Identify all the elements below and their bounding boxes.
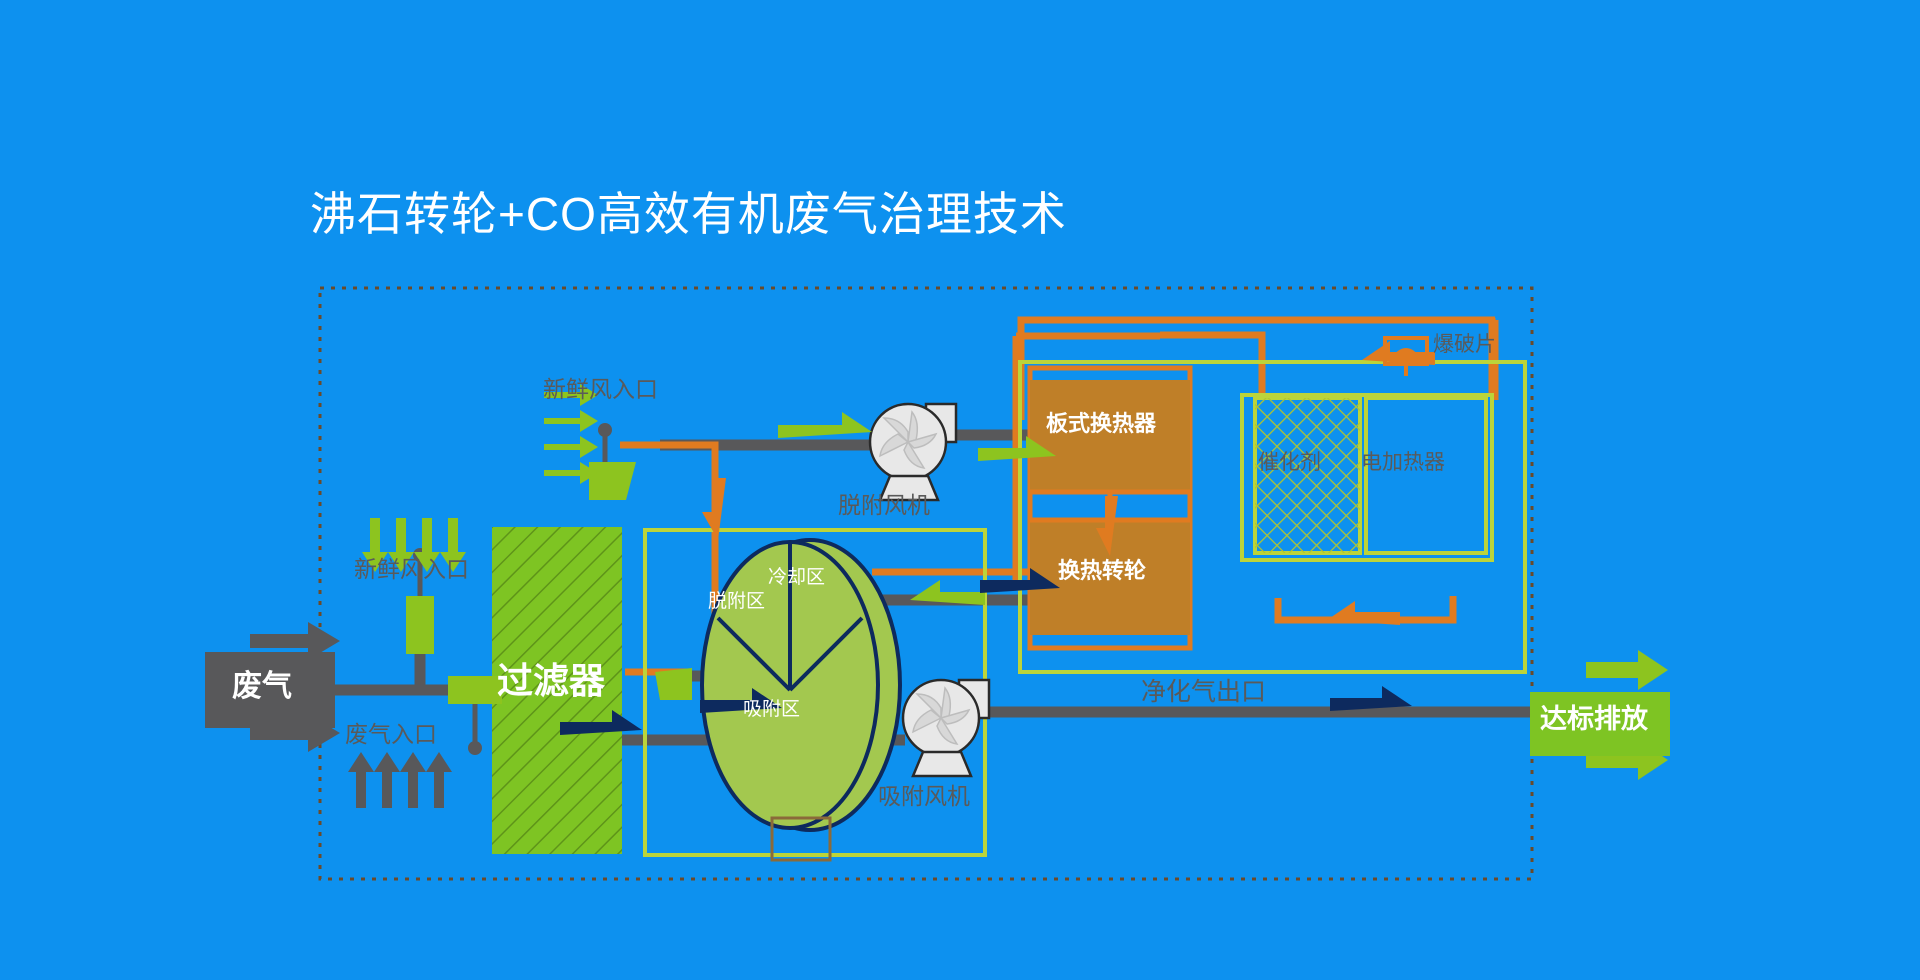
filter-label: 过滤器	[497, 663, 605, 699]
process-flow-diagram	[0, 0, 1920, 980]
fresh-air-top-label: 新鲜风入口	[543, 378, 658, 401]
fresh-air-left-label: 新鲜风入口	[354, 558, 469, 581]
gauge-dot-fresh-air-top	[598, 423, 612, 437]
rupture-disc-label: 爆破片	[1433, 334, 1496, 355]
rotor-zone-adsorption-label: 吸附区	[743, 700, 800, 719]
valve-fresh-air-left	[406, 596, 434, 654]
waste-gas-box-label: 废气	[232, 672, 292, 702]
damper-rotor-desorption	[655, 668, 692, 700]
desorption-fan[interactable]	[870, 404, 956, 500]
waste-gas-inlet-arrows	[348, 752, 452, 808]
clean-gas-outlet-label: 净化气出口	[1141, 680, 1266, 705]
catalyst-media	[1255, 398, 1360, 553]
arrow-green-1	[778, 412, 872, 438]
valve-waste-gas-inlet	[448, 676, 502, 704]
adsorption-fan-label: 吸附风机	[878, 785, 970, 808]
diagram-canvas: 沸石转轮+CO高效有机废气治理技术	[0, 0, 1920, 980]
electric-heater-label: 电加热器	[1361, 452, 1445, 473]
heater-frame	[1366, 398, 1486, 553]
rotor-zone-desorption-label: 脱附区	[708, 592, 765, 611]
adsorption-fan[interactable]	[903, 680, 989, 776]
damper-fresh-air-top	[589, 462, 636, 500]
discharge-box-label: 达标排放	[1540, 706, 1648, 733]
waste-gas-inlet-label: 废气入口	[345, 723, 437, 746]
gauge-dot-waste-gas-in	[468, 741, 482, 755]
heat-exchange-rotor-label: 换热转轮	[1058, 560, 1146, 582]
plate-heat-exchanger-body	[1030, 380, 1190, 492]
plate-heat-exchanger-label: 板式换热器	[1046, 413, 1156, 435]
rotor-zone-cooling-label: 冷却区	[768, 568, 825, 587]
catalyst-label: 催化剂	[1258, 452, 1321, 473]
desorption-fan-label: 脱附风机	[838, 494, 930, 517]
